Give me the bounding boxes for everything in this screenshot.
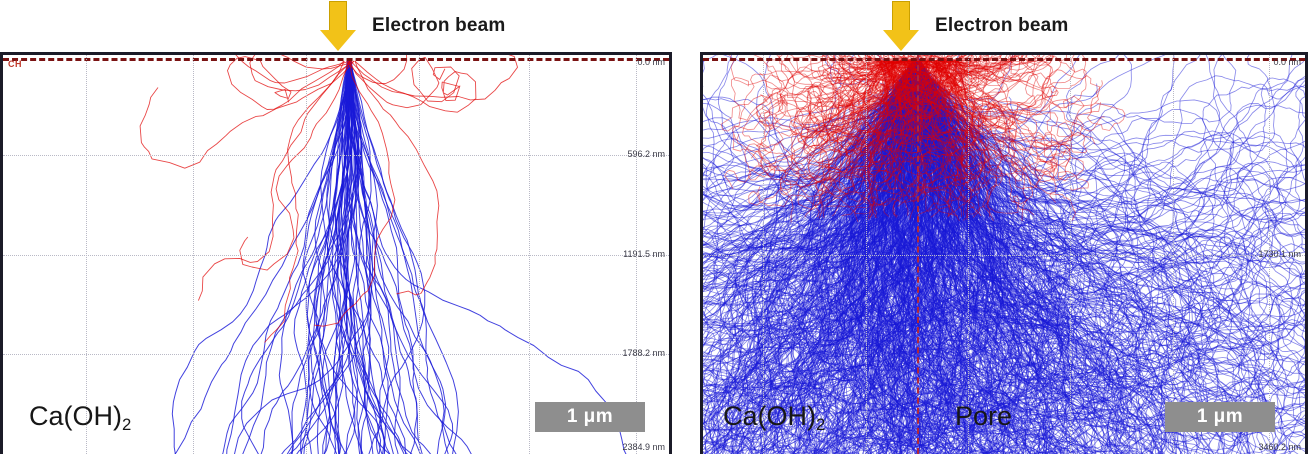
material-label-caoh2-right: Ca(OH)2 [723,401,825,432]
beam-annotation-left: Electron beam [320,0,506,52]
phase-tag-ch: CH [8,59,22,69]
electron-track [346,59,638,454]
down-arrow-icon [883,1,919,51]
specimen-surface-line [703,58,1305,61]
scale-bar-left: 1 μm [535,402,645,432]
material-label-base: Pore [955,401,1012,431]
trajectory-plot-right [703,55,1305,454]
depth-tick-label-0: 0.0 nm [1273,57,1301,67]
pore-interface-line [917,55,919,454]
primary-electron-tracks [132,59,638,454]
depth-tick-label-2: 1191.5 nm [623,249,665,259]
depth-tick-label-4: 2384.9 nm [622,442,665,452]
material-label-caoh2-left: Ca(OH)2 [29,401,131,432]
beam-annotation-right: Electron beam [883,0,1069,52]
simulation-figure: Electron beam Electron beam CH 0.0 nm596… [0,0,1308,454]
trajectory-layer [703,55,1305,454]
depth-tick-label-3: 1788.2 nm [622,348,665,358]
material-label-base: Ca(OH) [29,401,122,431]
trajectory-layer [3,55,669,454]
material-label-subscript: 2 [816,415,825,434]
scale-bar-right: 1 μm [1165,402,1275,432]
material-label-pore: Pore [955,401,1012,432]
specimen-surface-line [3,58,669,61]
down-arrow-icon [320,1,356,51]
depth-tick-label-1: 1730.1 nm [1258,249,1301,259]
material-label-base: Ca(OH) [723,401,816,431]
material-label-subscript: 2 [122,415,131,434]
depth-tick-label-2: 3460.2 nm [1258,442,1301,452]
trajectory-plot-left [3,55,669,454]
depth-tick-label-1: 596.2 nm [627,149,665,159]
simulation-panel-right: 0.0 nm1730.1 nm3460.2 nm Ca(OH)2 Pore 1 … [700,52,1308,454]
beam-caption-right: Electron beam [935,15,1069,37]
beam-caption-left: Electron beam [372,15,506,37]
simulation-panel-left: CH 0.0 nm596.2 nm1191.5 nm1788.2 nm2384.… [0,52,672,454]
depth-tick-label-0: 0.0 nm [637,57,665,67]
